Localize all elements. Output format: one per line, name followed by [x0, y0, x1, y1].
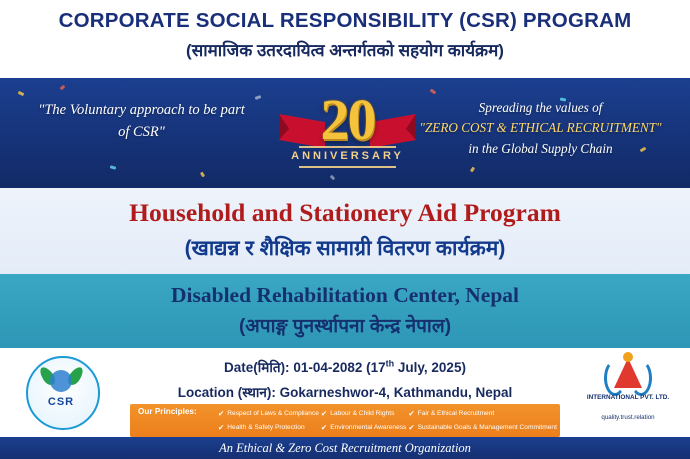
principle-item: ✔Fair & Ethical Recruitment: [408, 407, 557, 421]
company-logo: INTERNATIONAL PVT. LTD. quality.trust.re…: [580, 352, 676, 430]
confetti-dot: [255, 95, 262, 100]
check-icon: ✔: [408, 410, 414, 418]
principle-item: ✔Respect of Laws & Compliance: [218, 407, 319, 421]
page-title-nepali: (सामाजिक उतरदायित्व अन्तर्गतको सहयोग कार…: [0, 33, 690, 61]
globe-icon: [50, 370, 72, 392]
venue-band: Disabled Rehabilitation Center, Nepal (अ…: [0, 274, 690, 348]
date-value: 01-04-2082 (17: [293, 360, 385, 375]
principle-label: Labour & Child Rights: [330, 410, 394, 417]
check-icon: ✔: [321, 424, 327, 432]
location-label: Location (स्थान):: [178, 385, 276, 400]
company-tagline: quality.trust.relation: [580, 414, 676, 421]
check-icon: ✔: [218, 410, 224, 418]
voluntary-quote: "The Voluntary approach to be part of CS…: [34, 100, 249, 144]
csr-logo-ring: [26, 356, 100, 430]
confetti-dot: [200, 172, 205, 178]
values-quote-line1: Spreading the values of: [413, 98, 668, 118]
program-title-en: Household and Stationery Aid Program: [0, 188, 690, 228]
poster-footer: An Ethical & Zero Cost Recruitment Organ…: [0, 437, 690, 459]
principle-label: Health & Safety Protection: [227, 424, 304, 431]
principle-item: ✔Environmental Awareness: [321, 421, 406, 435]
company-name: INTERNATIONAL PVT. LTD.: [580, 394, 676, 402]
date-label: Date(मिति):: [224, 360, 290, 375]
principle-item: ✔Health & Safety Protection: [218, 421, 319, 435]
principles-strip: Our Principles: ✔Respect of Laws & Compl…: [130, 404, 560, 437]
anniversary-number: 20: [285, 86, 410, 153]
poster: CORPORATE SOCIAL RESPONSIBILITY (CSR) PR…: [0, 0, 690, 459]
principle-label: Sustainable Goals & Management Commitmen…: [418, 424, 557, 431]
confetti-dot: [60, 85, 66, 91]
anniversary-emblem: 20 ANNIVERSARY: [285, 84, 410, 188]
principle-item: ✔Sustainable Goals & Management Commitme…: [408, 421, 557, 435]
principle-label: Fair & Ethical Recruitment: [418, 410, 495, 417]
date-value-suffix: July, 2025): [394, 360, 466, 375]
csr-logo: CSR: [22, 352, 100, 430]
principles-label: Our Principles:: [138, 407, 218, 417]
values-quote-line3: in the Global Supply Chain: [413, 139, 668, 159]
page-title: CORPORATE SOCIAL RESPONSIBILITY (CSR) PR…: [0, 0, 690, 33]
principle-label: Respect of Laws & Compliance: [227, 410, 319, 417]
confetti-dot: [470, 167, 475, 173]
triangle-icon: [614, 358, 642, 388]
poster-header: CORPORATE SOCIAL RESPONSIBILITY (CSR) PR…: [0, 0, 690, 78]
program-band: Household and Stationery Aid Program (खा…: [0, 188, 690, 274]
confetti-dot: [18, 91, 25, 96]
principles-list: ✔Respect of Laws & Compliance ✔Labour & …: [218, 407, 554, 434]
principle-item: ✔Labour & Child Rights: [321, 407, 406, 421]
values-quote-line2: "ZERO COST & ETHICAL RECRUITMENT": [413, 118, 668, 138]
anniversary-label: ANNIVERSARY: [285, 150, 410, 162]
dot-icon: [623, 352, 633, 362]
csr-logo-text: CSR: [26, 396, 96, 408]
values-quote: Spreading the values of "ZERO COST & ETH…: [413, 98, 668, 159]
principle-label: Environmental Awareness: [330, 424, 406, 431]
emblem-rule-bottom: [299, 166, 396, 168]
venue-name-nepali: (अपाङ्ग पुनर्स्थापना केन्द्र नेपाल): [0, 308, 690, 338]
check-icon: ✔: [321, 410, 327, 418]
location-value: Gokarneshwor-4, Kathmandu, Nepal: [280, 385, 513, 400]
anniversary-band: "The Voluntary approach to be part of CS…: [0, 78, 690, 188]
confetti-dot: [110, 165, 117, 169]
footer-text: An Ethical & Zero Cost Recruitment Organ…: [0, 437, 690, 456]
venue-name-en: Disabled Rehabilitation Center, Nepal: [0, 274, 690, 308]
check-icon: ✔: [408, 424, 414, 432]
company-logo-mark-icon: [606, 354, 650, 394]
program-title-nepali: (खाद्यन्न र शैक्षिक सामाग्री वितरण कार्य…: [0, 228, 690, 262]
date-ordinal-suffix: th: [386, 359, 395, 369]
confetti-dot: [430, 89, 437, 95]
check-icon: ✔: [218, 424, 224, 432]
